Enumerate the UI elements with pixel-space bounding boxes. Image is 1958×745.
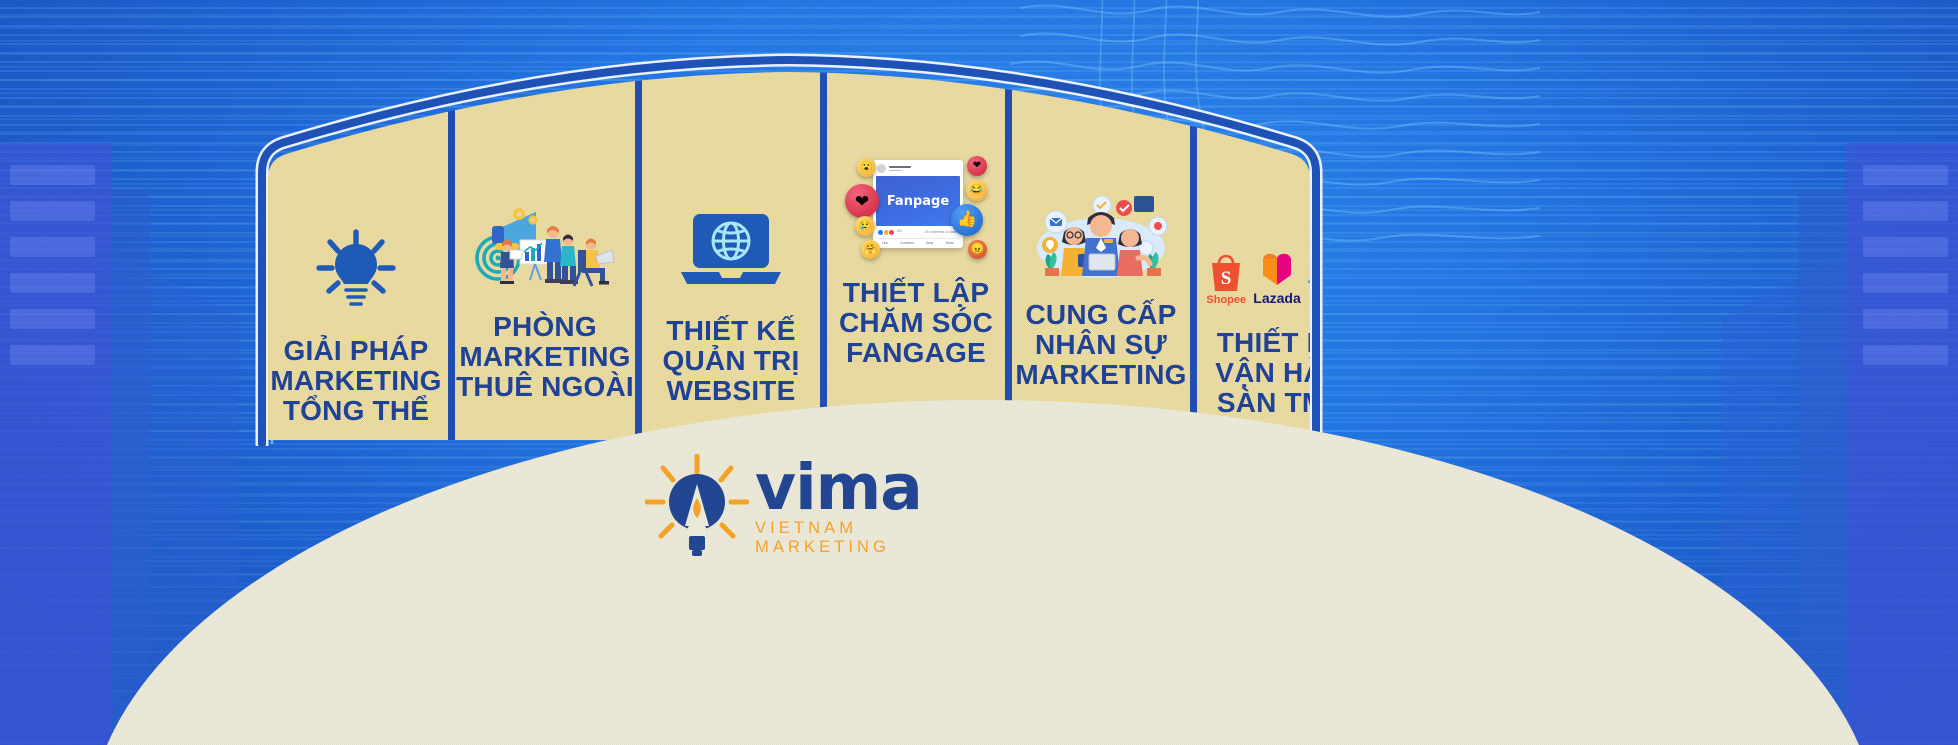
fanpage-action-like[interactable]: Like [882,241,888,245]
building-right-front [1846,143,1958,745]
panel-label-line: CUNG CẤP [1015,300,1186,330]
lazada-name: Lazada [1253,290,1300,306]
panel-divider [448,86,455,444]
fanpage-action-bar[interactable]: Like Comment Send Share [876,238,960,245]
fanpage-action-comment[interactable]: Comment [900,241,914,245]
building-left-front [0,143,112,745]
reaction-haha-icon: 😂 [966,180,987,201]
shopee-logo: S Shopee [1206,251,1246,306]
vima-word: vima [755,459,945,517]
panel-label-line: THIẾT KẾ [663,316,800,346]
fanpage-action-share[interactable]: Share [945,241,954,245]
panel-label-line: MARKETING [1015,360,1186,390]
vima-wordmark: vima VIETNAM MARKETING [755,459,945,558]
building-window [1863,309,1948,329]
lazada-logo: Lazada [1253,249,1300,306]
laptop-globe-icon [679,68,783,294]
panel-label: THIẾT LẬP CHĂM SÓC FANGAGE [839,278,993,368]
building-window [10,165,95,185]
service-panel-phong-marketing-thue-ngoai[interactable]: PHÒNG MARKETING THUÊ NGOÀI [455,68,635,444]
panel-label-line: MARKETING [270,366,441,396]
building-window [10,345,95,365]
facebook-fanpage-card: Fanpage 183 29 comments 14 shares [845,68,987,260]
fanpage-post-card[interactable]: Fanpage 183 29 comments 14 shares [873,160,963,248]
svg-text:S: S [1221,268,1232,289]
lazada-heart-icon [1257,249,1297,289]
building-window [10,201,95,221]
panel-label-line: CHĂM SÓC [839,308,993,338]
panel-label-line: MARKETING [456,342,634,372]
panel-label-line: TỔNG THỂ [270,396,441,426]
building-window [10,237,95,257]
panel-divider [1190,78,1197,444]
fanpage-action-send[interactable]: Send [926,241,933,245]
reaction-angry-icon: 😠 [968,240,987,259]
shopee-bag-icon: S [1206,251,1246,293]
building-window [1863,237,1948,257]
vima-service-banner: GIẢI PHÁP MARKETING TỔNG THỂ [0,0,1958,745]
building-window [10,309,95,329]
panel-divider [820,72,827,444]
service-panel-thiet-lap-cham-soc-fangage[interactable]: Fanpage 183 29 comments 14 shares [827,68,1005,444]
fanpage-post-header [876,163,960,176]
panel-divider [635,76,642,444]
reaction-love-icon: ❤ [845,184,879,218]
fanpage-post-stats: 183 29 comments 14 shares [876,226,960,238]
building-window [1863,345,1948,365]
vima-logo[interactable]: vima VIETNAM MARKETING [645,452,945,564]
fanpage-post-meta [889,166,959,171]
building-window [1863,165,1948,185]
service-panel-thiet-ke-quan-tri-website[interactable]: THIẾT KẾ QUẢN TRỊ WEBSITE [642,68,820,444]
panel-label-line: FANGAGE [839,338,993,368]
building-window [1863,273,1948,293]
panel-label-line: NHÂN SỰ [1015,330,1186,360]
panel-label-line: WEBSITE [663,376,800,406]
reaction-sad-icon: 😢 [855,216,875,236]
panel-label: THIẾT KẾ QUẢN TRỊ WEBSITE [663,316,800,406]
panel-divider [1005,72,1012,444]
reaction-care-icon: 🤗 [861,240,880,259]
reaction-wow-icon: 😮 [857,158,876,177]
service-arch-board: GIẢI PHÁP MARKETING TỔNG THỂ [234,62,1344,432]
panel-label-line: GIẢI PHÁP [270,336,441,366]
panel-label: CUNG CẤP NHÂN SỰ MARKETING [1015,300,1186,390]
vima-tagline: VIETNAM MARKETING [755,519,945,557]
building-window [10,273,95,293]
building-window [1863,201,1948,221]
comment-share-meta: 29 comments 14 shares [925,230,959,234]
reaction-like-icon: 👍 [951,204,983,236]
lightbulb-flame-icon [645,454,749,562]
service-panel-cung-cap-nhan-su-marketing[interactable]: CUNG CẤP NHÂN SỰ MARKETING [1012,68,1190,444]
reaction-pills: 183 [877,229,902,236]
reaction-love-small-icon: ❤ [967,156,987,176]
fanpage-post-image: Fanpage [876,176,960,226]
panel-label-line: THUÊ NGOÀI [456,372,634,402]
panel-label: GIẢI PHÁP MARKETING TỔNG THỂ [270,336,441,426]
panel-label-line: THIẾT LẬP [839,278,993,308]
panel-label-line: PHÒNG [456,312,634,342]
panel-label: PHÒNG MARKETING THUÊ NGOÀI [456,312,634,402]
panel-label-line: QUẢN TRỊ [663,346,800,376]
shopee-name: Shopee [1206,294,1246,306]
reaction-count: 183 [897,229,902,236]
fanpage-title: Fanpage [887,194,949,209]
fanpage-avatar [877,164,886,173]
